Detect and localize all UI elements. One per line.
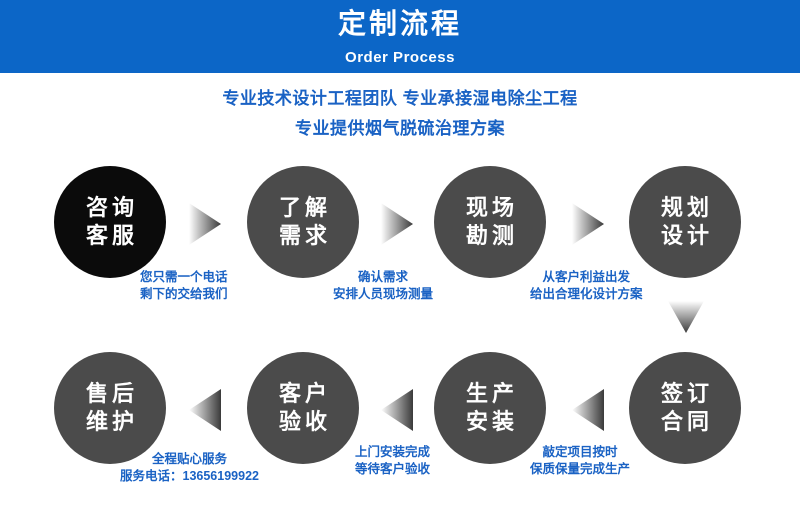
flow-stage-survey-line-2: 勘测 — [462, 222, 518, 250]
caption-consult-line-1: 您只需一个电话 — [140, 269, 228, 286]
flow-stage-needs-line-1: 了解 — [275, 194, 331, 222]
caption-design: 从客户利益出发 给出合理化设计方案 — [530, 269, 643, 303]
flow-stage-aftercare-line-2: 维护 — [82, 408, 138, 436]
caption-needs: 确认需求 安排人员现场测量 — [333, 269, 433, 303]
caption-contract: 敲定项目按时 保质保量完成生产 — [530, 444, 630, 478]
flow-stage-contract-line-1: 签订 — [657, 380, 713, 408]
page-header-banner: 定制流程 Order Process — [0, 0, 800, 73]
caption-design-line-2: 给出合理化设计方案 — [530, 286, 643, 303]
page-subtitle-english: Order Process — [0, 38, 800, 65]
arrow-left-icon — [189, 389, 221, 431]
flow-stage-install-line-1: 生产 — [462, 380, 518, 408]
arrow-right-icon — [572, 203, 604, 245]
flow-stage-install-line-2: 安装 — [462, 408, 518, 436]
flow-stage-acceptance-line-1: 客户 — [275, 380, 331, 408]
flow-stage-contract: 签订 合同 — [629, 352, 741, 464]
caption-contract-line-1: 敲定项目按时 — [530, 444, 630, 461]
caption-contract-line-2: 保质保量完成生产 — [530, 461, 630, 478]
page-title: 定制流程 — [0, 0, 800, 38]
flow-stage-consult: 咨询 客服 — [54, 166, 166, 278]
flow-stage-aftercare: 售后 维护 — [54, 352, 166, 464]
arrow-right-icon — [189, 203, 221, 245]
flow-stage-consult-line-1: 咨询 — [82, 194, 138, 222]
caption-design-line-1: 从客户利益出发 — [530, 269, 643, 286]
flow-stage-survey-line-1: 现场 — [462, 194, 518, 222]
flow-stage-design-line-2: 设计 — [657, 222, 713, 250]
flow-stage-design-line-1: 规划 — [657, 194, 713, 222]
flow-stage-needs-line-2: 需求 — [275, 222, 331, 250]
arrow-left-icon — [381, 389, 413, 431]
flow-stage-design: 规划 设计 — [629, 166, 741, 278]
tagline-line-2: 专业提供烟气脱硫治理方案 — [0, 114, 800, 144]
caption-aftercare-line-1: 全程贴心服务 — [120, 451, 259, 468]
caption-needs-line-2: 安排人员现场测量 — [333, 286, 433, 303]
caption-needs-line-1: 确认需求 — [333, 269, 433, 286]
caption-consult: 您只需一个电话 剩下的交给我们 — [140, 269, 228, 303]
tagline-line-1: 专业技术设计工程团队 专业承接湿电除尘工程 — [0, 84, 800, 114]
arrow-right-icon — [381, 203, 413, 245]
arrow-down-icon — [668, 301, 704, 333]
flow-stage-consult-line-2: 客服 — [82, 222, 138, 250]
caption-acceptance-line-2: 等待客户验收 — [355, 461, 430, 478]
caption-acceptance: 上门安装完成 等待客户验收 — [355, 444, 430, 478]
flow-stage-acceptance-line-2: 验收 — [275, 408, 331, 436]
company-tagline-block: 专业技术设计工程团队 专业承接湿电除尘工程 专业提供烟气脱硫治理方案 — [0, 84, 800, 144]
caption-aftercare-phone: 服务电话：13656199922 — [120, 468, 259, 485]
flow-stage-needs: 了解 需求 — [247, 166, 359, 278]
flow-stage-aftercare-line-1: 售后 — [82, 380, 138, 408]
caption-acceptance-line-1: 上门安装完成 — [355, 444, 430, 461]
caption-aftercare: 全程贴心服务 服务电话：13656199922 — [120, 451, 259, 485]
flow-stage-survey: 现场 勘测 — [434, 166, 546, 278]
flow-stage-acceptance: 客户 验收 — [247, 352, 359, 464]
caption-consult-line-2: 剩下的交给我们 — [140, 286, 228, 303]
flow-stage-contract-line-2: 合同 — [657, 408, 713, 436]
arrow-left-icon — [572, 389, 604, 431]
